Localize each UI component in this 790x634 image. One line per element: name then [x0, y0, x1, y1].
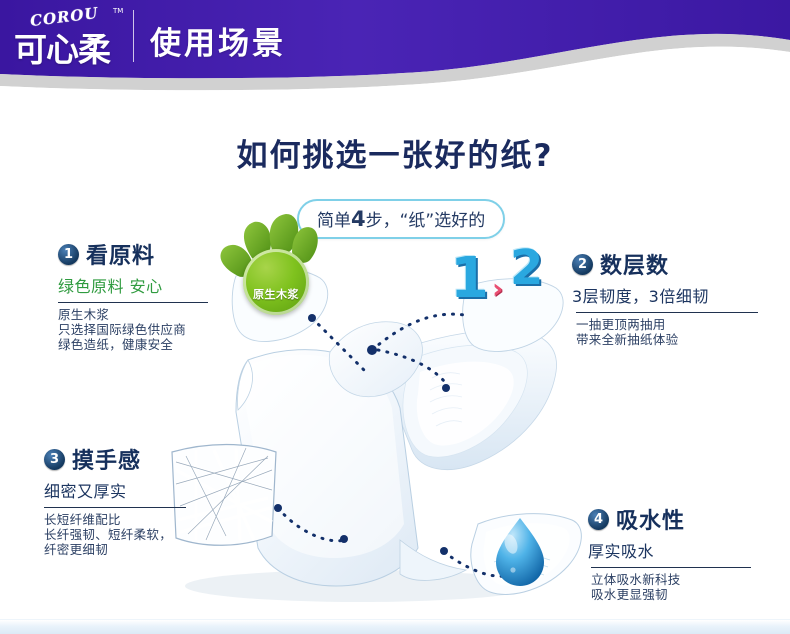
water-drop-icon — [496, 518, 544, 586]
feature-block-2: 2 数层数 3层韧度，3倍细韧 一抽更顶两抽用 带来全新抽纸体验 — [572, 248, 772, 347]
page-title: 如何挑选一张好的纸? — [0, 130, 790, 175]
trademark-icon: TM — [113, 7, 123, 15]
feature-1-divider — [58, 302, 208, 303]
feature-4-title: 吸水性 — [616, 503, 685, 535]
pill-prefix: 简单 — [317, 211, 351, 231]
feature-2-divider — [576, 312, 758, 313]
feature-1-number-badge: 1 — [58, 244, 79, 265]
feature-4-number-badge: 4 — [588, 509, 609, 530]
feature-1-subtitle: 绿色原料 安心 — [58, 273, 234, 297]
feature-2-body: 一抽更顶两抽用 带来全新抽纸体验 — [576, 317, 772, 347]
feature-4-heading: 4 吸水性 — [588, 503, 763, 535]
feature-3-body-line: 纤密更细韧 — [44, 542, 204, 557]
feature-4-divider — [591, 567, 751, 568]
feature-4-body: 立体吸水新科技 吸水更显强韧 — [591, 572, 763, 602]
bottom-strip — [0, 619, 790, 634]
header-section-title: 使用场景 — [150, 18, 286, 63]
feature-2-title: 数层数 — [600, 248, 669, 280]
feature-1-heading: 1 看原料 — [58, 238, 234, 270]
feature-4-body-line: 吸水更显强韧 — [591, 587, 763, 602]
feature-1-body-line: 原生木浆 — [58, 307, 234, 322]
page-root: COROU TM 可心柔 使用场景 如何挑选一张好的纸? 简单4步，“纸”选好的 — [0, 0, 790, 634]
header-divider — [133, 10, 134, 62]
feature-4-body-line: 立体吸水新科技 — [591, 572, 763, 587]
feature-2-subtitle: 3层韧度，3倍细韧 — [572, 283, 772, 307]
feature-3-heading: 3 摸手感 — [44, 443, 204, 475]
feature-2-heading: 2 数层数 — [572, 248, 772, 280]
arrow-right-icon: › — [492, 272, 504, 305]
feature-block-4: 4 吸水性 厚实吸水 立体吸水新科技 吸水更显强韧 — [588, 503, 763, 602]
feature-3-number-badge: 3 — [44, 449, 65, 470]
pulp-badge: 原生木浆 — [243, 249, 309, 315]
feature-1-body-line: 绿色造纸，健康安全 — [58, 337, 234, 352]
feature-4-subtitle: 厚实吸水 — [588, 538, 763, 562]
feature-block-1: 1 看原料 绿色原料 安心 原生木浆 只选择国际绿色供应商 绿色造纸，健康安全 — [58, 238, 234, 352]
pill-suffix: 步，“纸”选好的 — [366, 211, 486, 231]
pulp-badge-circle — [243, 249, 309, 315]
subtitle-pill: 简单4步，“纸”选好的 — [297, 199, 505, 239]
layers-number-graphic: 1 › 2 — [448, 250, 568, 330]
feature-1-title: 看原料 — [86, 238, 155, 270]
feature-3-body-line: 长纤强韧、短纤柔软， — [44, 527, 204, 542]
feature-3-body-line: 长短纤维配比 — [44, 512, 204, 527]
feature-2-body-line: 一抽更顶两抽用 — [576, 317, 772, 332]
feature-2-number-badge: 2 — [572, 254, 593, 275]
page-header: COROU TM 可心柔 使用场景 — [0, 0, 790, 100]
feature-1-body-line: 只选择国际绿色供应商 — [58, 322, 234, 337]
pulp-badge-label: 原生木浆 — [243, 286, 309, 302]
layer-number-to: 2 — [510, 240, 543, 296]
feature-2-body-line: 带来全新抽纸体验 — [576, 332, 772, 347]
brand-logo: COROU TM 可心柔 — [12, 6, 132, 66]
brand-chinese-text: 可心柔 — [14, 23, 110, 71]
feature-1-body: 原生木浆 只选择国际绿色供应商 绿色造纸，健康安全 — [58, 307, 234, 352]
feature-3-divider — [44, 507, 186, 508]
feature-3-body: 长短纤维配比 长纤强韧、短纤柔软， 纤密更细韧 — [44, 512, 204, 557]
layer-number-from: 1 — [450, 246, 489, 311]
feature-3-subtitle: 细密又厚实 — [44, 478, 204, 502]
feature-block-3: 3 摸手感 细密又厚实 长短纤维配比 长纤强韧、短纤柔软， 纤密更细韧 — [44, 443, 204, 557]
feature-3-title: 摸手感 — [72, 443, 141, 475]
pill-number: 4 — [351, 207, 366, 231]
